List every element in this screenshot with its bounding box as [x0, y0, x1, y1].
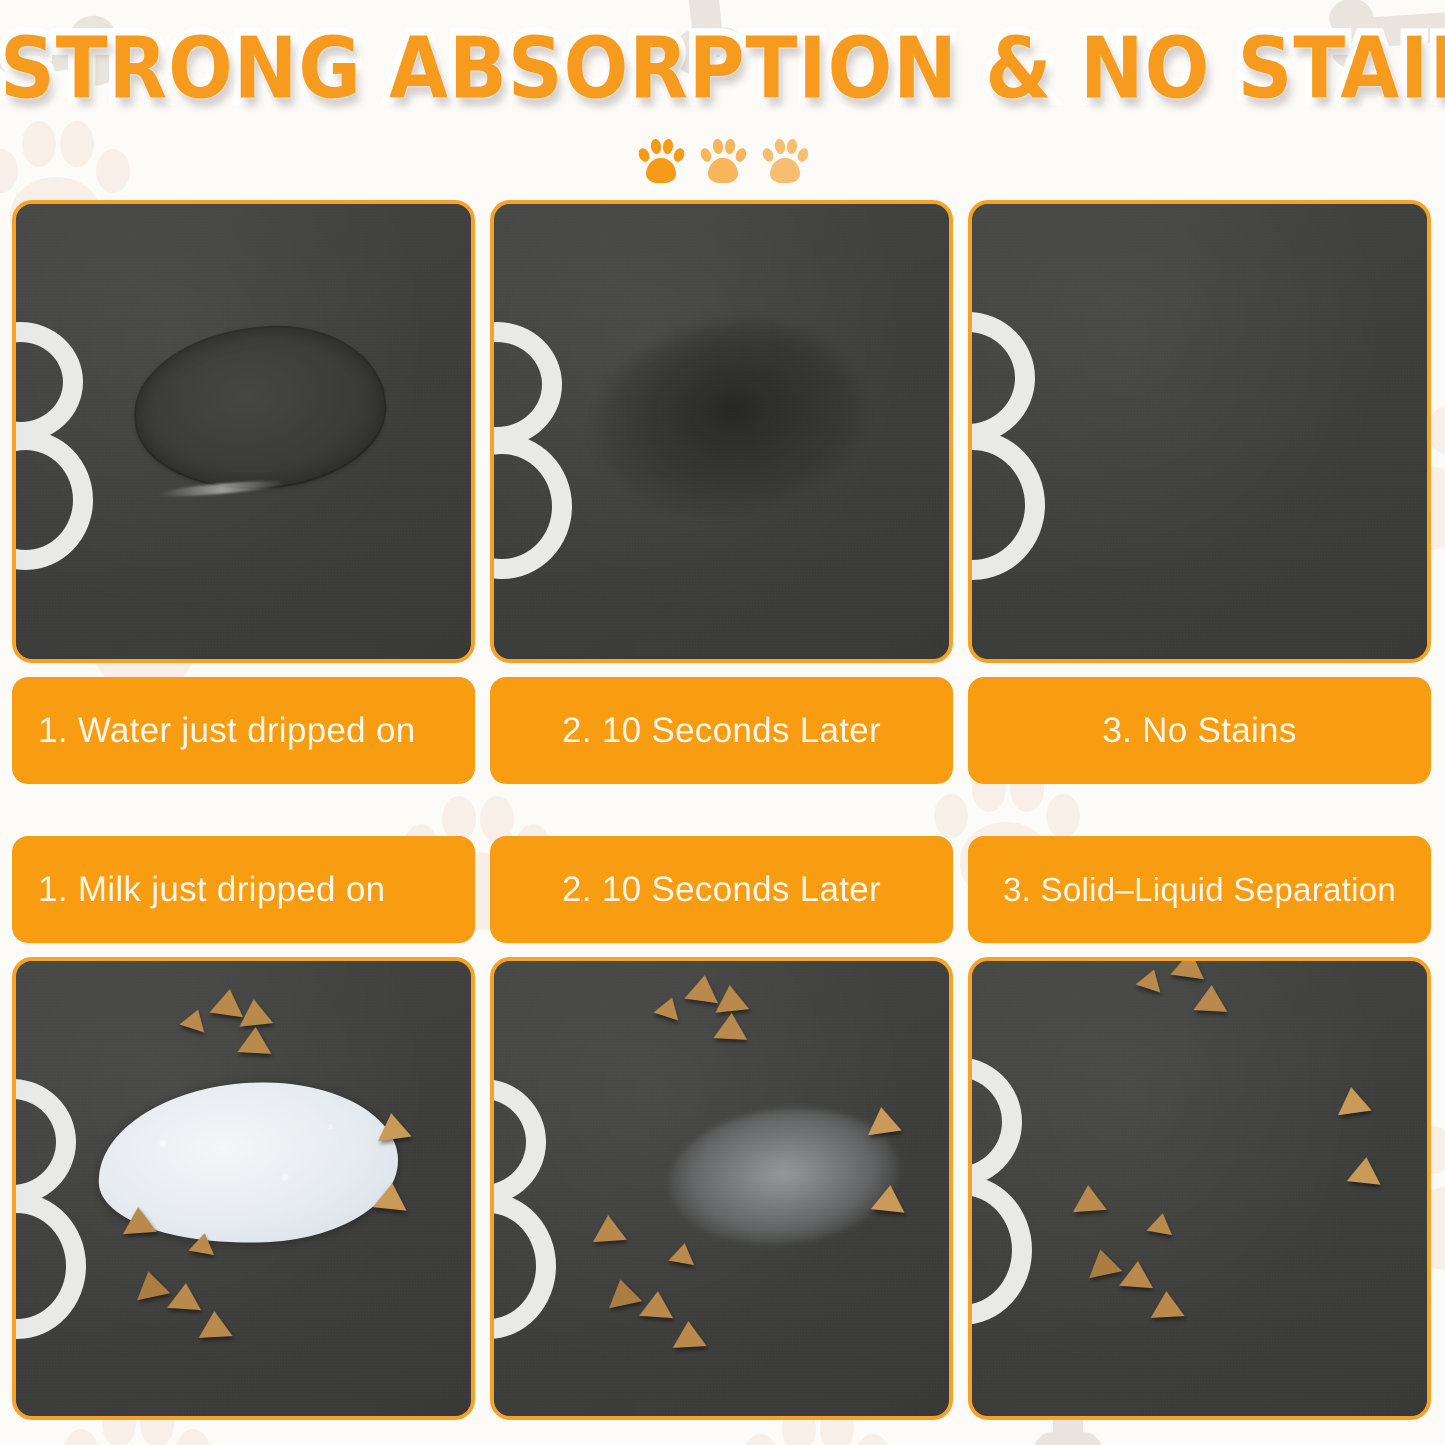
- kibble-piece: [1193, 984, 1228, 1012]
- kibble-piece: [713, 1012, 748, 1040]
- dry-kibble-on-clean-mat-photo: [968, 957, 1431, 1420]
- kibble-piece: [1146, 1211, 1175, 1235]
- kibble-piece: [864, 1105, 901, 1135]
- kibble-piece: [373, 1181, 410, 1210]
- kibble-piece: [167, 1282, 203, 1310]
- kibble-piece: [188, 1231, 217, 1255]
- milk-absorbing-with-kibble-photo: [490, 957, 953, 1420]
- comparison-grid: 1. Water just dripped on 2. 10 Seconds L…: [12, 200, 1433, 1420]
- kibble-piece: [197, 1310, 232, 1338]
- cell-milk-step-2: 2. 10 Seconds Later: [490, 836, 953, 1420]
- caption-water-step-3: 3. No Stains: [968, 677, 1431, 784]
- kibble-piece: [668, 1241, 697, 1265]
- page-title: STRONG ABSORPTION & NO STAINS: [0, 18, 1445, 118]
- cell-water-step-2: 2. 10 Seconds Later: [490, 200, 953, 784]
- cell-water-step-1: 1. Water just dripped on: [12, 200, 475, 784]
- product-infographic: STRONG ABSORPTION & NO STAINS: [0, 0, 1445, 1445]
- paw-divider: [0, 138, 1445, 184]
- paw-print-icon: [699, 138, 747, 184]
- caption-water-step-2: 2. 10 Seconds Later: [490, 677, 953, 784]
- water-absorbing-photo: [490, 200, 953, 663]
- pet-mat-surface: [972, 204, 1427, 659]
- kibble-piece: [713, 983, 750, 1012]
- headline: STRONG ABSORPTION & NO STAINS: [0, 18, 1445, 107]
- row-water-test: 1. Water just dripped on 2. 10 Seconds L…: [12, 200, 1433, 784]
- paw-print-icon: [637, 138, 685, 184]
- clean-dry-mat-photo: [968, 200, 1431, 663]
- kibble-piece: [1334, 1085, 1371, 1115]
- kibble-piece: [1119, 1260, 1155, 1288]
- kibble-piece: [639, 1290, 675, 1318]
- kibble-piece: [871, 1183, 908, 1212]
- kibble-piece: [1149, 1290, 1184, 1318]
- pet-mat-surface: [972, 961, 1427, 1416]
- kibble-piece: [237, 1026, 272, 1054]
- kibble-piece: [1071, 1184, 1107, 1212]
- kibble-piece: [1347, 1155, 1384, 1184]
- water-droplet-on-mat-photo: [12, 200, 475, 663]
- milk-spill-with-kibble-photo: [12, 957, 475, 1420]
- paw-print-icon: [761, 138, 809, 184]
- caption-milk-step-1: 1. Milk just dripped on: [12, 836, 475, 943]
- kibble-piece: [237, 997, 274, 1026]
- row-milk-test: 1. Milk just dripped on: [12, 836, 1433, 1420]
- cell-milk-step-3: 3. Solid–Liquid Separation: [968, 836, 1431, 1420]
- caption-milk-step-3: 3. Solid–Liquid Separation: [968, 836, 1431, 943]
- caption-milk-step-2: 2. 10 Seconds Later: [490, 836, 953, 943]
- kibble-piece: [671, 1320, 706, 1348]
- kibble-piece: [374, 1111, 411, 1141]
- kibble-piece: [591, 1214, 627, 1242]
- caption-water-step-1: 1. Water just dripped on: [12, 677, 475, 784]
- cell-milk-step-1: 1. Milk just dripped on: [12, 836, 475, 1420]
- kibble-piece: [121, 1206, 157, 1234]
- cell-water-step-3: 3. No Stains: [968, 200, 1431, 784]
